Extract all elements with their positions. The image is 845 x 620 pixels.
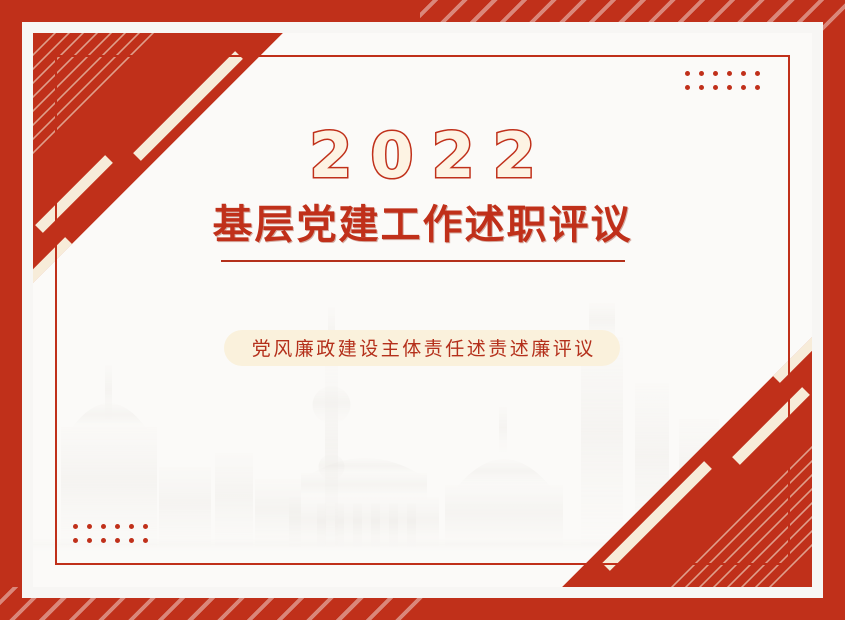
dot-grid-top-right-icon <box>685 71 764 94</box>
year-heading: 2022 <box>291 125 554 187</box>
dot-grid-bottom-left-icon <box>73 524 152 547</box>
subtitle-text: 党风廉政建设主体责任述责述廉评议 <box>227 328 618 367</box>
corner-triangle-top-left-icon <box>33 33 283 283</box>
corner-triangle-bottom-right-icon <box>562 337 812 587</box>
page-title: 基层党建工作述职评议 <box>213 203 633 247</box>
subtitle-pill-background <box>224 330 620 366</box>
poster-content: 2022 基层党建工作述职评议 党风廉政建设主体责任述责述廉评议 <box>33 33 812 587</box>
poster-canvas: 2022 基层党建工作述职评议 党风廉政建设主体责任述责述廉评议 <box>0 0 845 620</box>
subtitle-container: 党风廉政建设主体责任述责述廉评议 <box>227 328 618 367</box>
title-divider <box>221 260 625 262</box>
inner-red-border-rule <box>55 55 790 565</box>
inner-canvas: 2022 基层党建工作述职评议 党风廉政建设主体责任述责述廉评议 <box>33 33 812 587</box>
